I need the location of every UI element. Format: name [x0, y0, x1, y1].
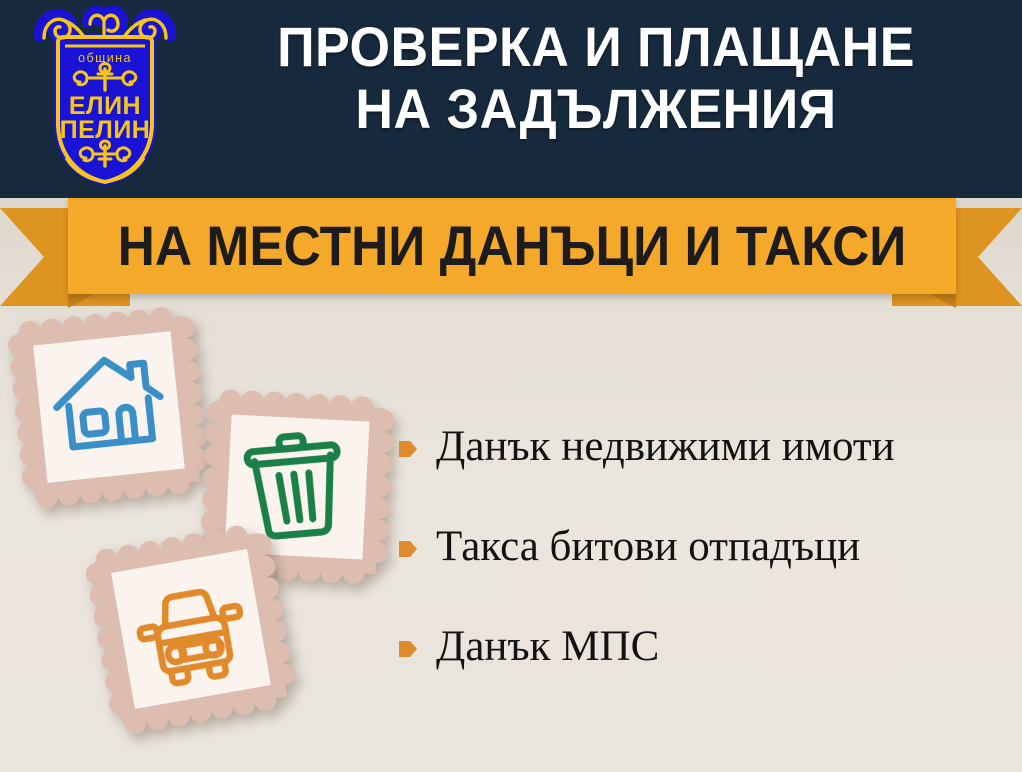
subtitle-ribbon: НА МЕСТНИ ДАНЪЦИ И ТАКСИ [0, 198, 1022, 308]
municipality-logo: община ЕЛИН ПЕЛИН [32, 6, 178, 188]
ribbon-label: НА МЕСТНИ ДАНЪЦИ И ТАКСИ [104, 198, 921, 294]
stamp-scalloped-border [6, 304, 213, 511]
tax-type-list: Данък недвижими имоти Такса битови отпад… [398, 424, 1018, 724]
list-item[interactable]: Данък недвижими имоти [398, 424, 1018, 470]
ribbon-fold-left [68, 294, 94, 308]
page-title-line-1: ПРОВЕРКА И ПЛАЩАНЕ [277, 15, 915, 78]
page-title: ПРОВЕРКА И ПЛАЩАНЕ НА ЗАДЪЛЖЕНИЯ [218, 16, 973, 140]
list-item-label: Данък недвижими имоти [436, 424, 895, 470]
arrow-bullet-icon [398, 438, 418, 460]
page-title-line-2: НА ЗАДЪЛЖЕНИЯ [218, 78, 973, 140]
list-item-label: Такса битови отпадъци [436, 524, 860, 570]
page-header: община ЕЛИН ПЕЛИН [0, 0, 1022, 198]
stamp-car [81, 519, 301, 739]
list-item[interactable]: Данък МПС [398, 624, 1018, 670]
stamp-scalloped-border [82, 520, 300, 738]
coat-of-arms-icon: община ЕЛИН ПЕЛИН [32, 6, 178, 188]
arrow-bullet-icon [398, 538, 418, 560]
arrow-bullet-icon [398, 638, 418, 660]
ribbon-fold-right [930, 294, 956, 308]
list-item[interactable]: Такса битови отпадъци [398, 524, 1018, 570]
list-item-label: Данък МПС [436, 624, 659, 670]
stamp-house [5, 303, 214, 512]
